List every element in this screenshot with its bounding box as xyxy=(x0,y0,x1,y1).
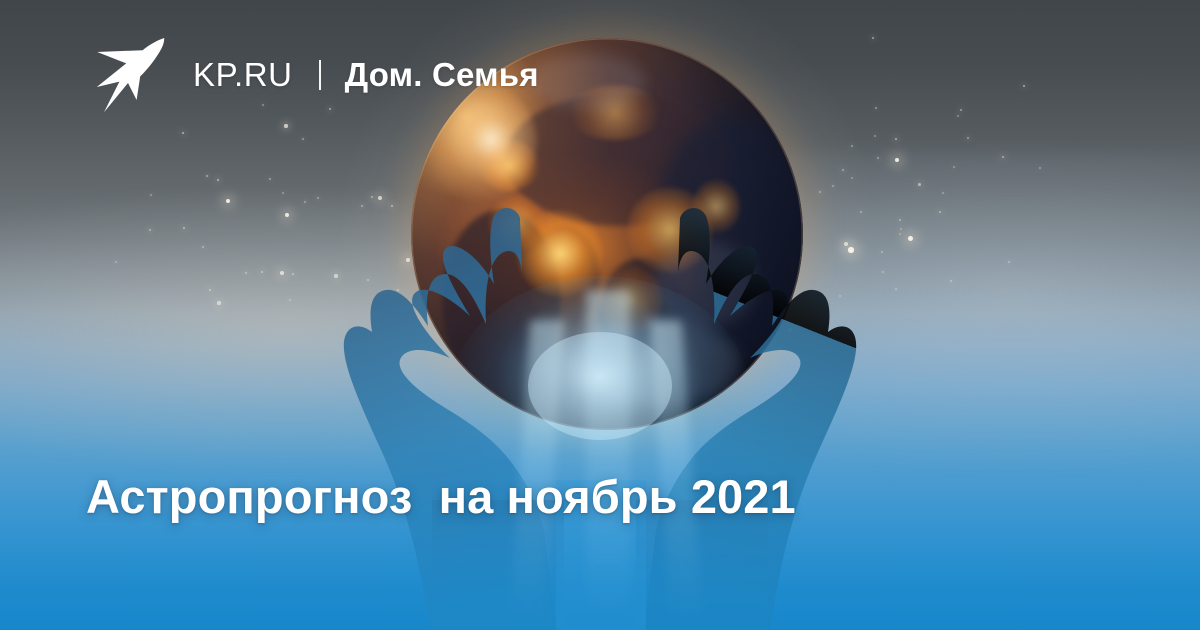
star-icon xyxy=(206,175,208,177)
star-icon xyxy=(895,158,900,163)
star-icon xyxy=(182,132,185,135)
star-icon xyxy=(957,115,959,117)
star-icon xyxy=(1039,167,1041,169)
headline: Астропрогноз на ноябрь 2021 от Татьяны Л… xyxy=(86,327,986,630)
star-icon xyxy=(269,178,271,180)
star-icon xyxy=(217,179,220,182)
star-icon xyxy=(877,157,879,159)
brand-divider xyxy=(319,60,321,90)
star-icon xyxy=(967,137,969,139)
section-name[interactable]: Дом. Семья xyxy=(345,56,539,94)
star-icon xyxy=(953,166,955,168)
star-icon xyxy=(150,194,152,196)
star-icon xyxy=(282,192,284,194)
star-icon xyxy=(872,37,874,39)
swallow-bird-logo-icon[interactable] xyxy=(95,36,165,114)
social-share-card: KP.RU Дом. Семья Астропрогноз на ноябрь … xyxy=(0,0,1200,630)
star-icon xyxy=(875,107,877,109)
headline-line-1: Астропрогноз на ноябрь 2021 xyxy=(86,463,986,531)
star-icon xyxy=(960,109,963,112)
header-brand-bar: KP.RU Дом. Семья xyxy=(95,36,539,114)
star-icon xyxy=(317,197,319,199)
star-icon xyxy=(918,183,921,186)
star-icon xyxy=(895,138,898,141)
star-icon xyxy=(284,124,287,127)
star-icon xyxy=(1023,85,1026,88)
star-icon xyxy=(1002,156,1005,159)
star-icon xyxy=(874,135,876,137)
brand-name[interactable]: KP.RU xyxy=(193,56,293,94)
star-icon xyxy=(302,138,304,140)
star-icon xyxy=(942,192,944,194)
